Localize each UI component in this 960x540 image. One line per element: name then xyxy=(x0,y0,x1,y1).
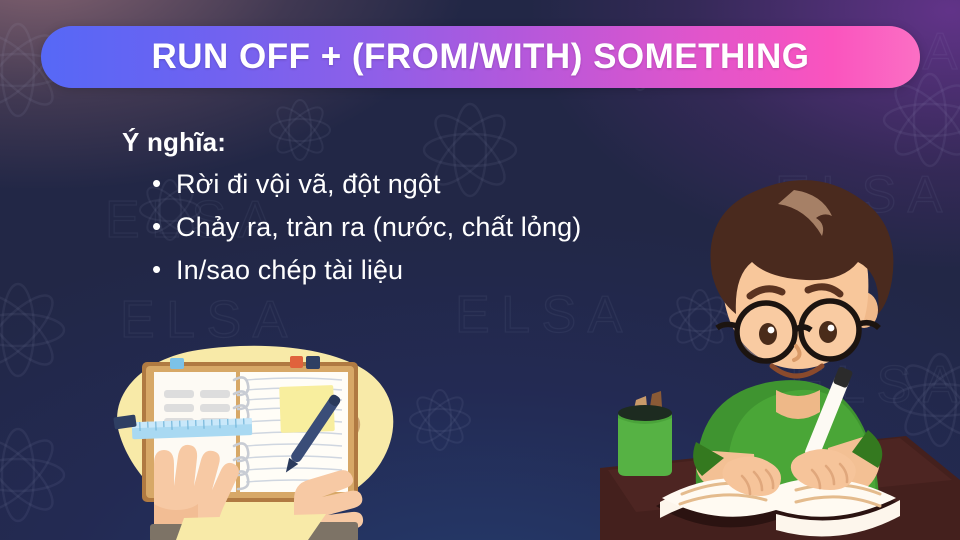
eye-right xyxy=(819,321,837,343)
list-item: • In/sao chép tài liệu xyxy=(152,251,581,290)
list-item: • Chảy ra, tràn ra (nước, chất lỏng) xyxy=(152,208,581,247)
list-item: • Rời đi vội vã, đột ngột xyxy=(152,165,581,204)
clip-blue xyxy=(170,358,184,369)
illustration-boy-studying xyxy=(600,150,960,540)
content-block: Ý nghĩa: • Rời đi vội vã, đột ngột • Chả… xyxy=(122,126,581,294)
list-item-label: Rời đi vội vã, đột ngột xyxy=(176,165,441,204)
page-title: RUN OFF + (FROM/WITH) SOMETHING xyxy=(151,37,809,77)
slide-root: ELSA ELSA ELSA ELSA ELSA ELSA RUN OFF + … xyxy=(0,0,960,540)
illustration-hands-writing-notebook xyxy=(58,318,418,540)
bullet-icon: • xyxy=(152,165,176,203)
list-item-label: Chảy ra, tràn ra (nước, chất lỏng) xyxy=(176,208,581,247)
hands-notebook-svg xyxy=(58,318,418,540)
paper-bottom xyxy=(176,514,326,540)
boy-studying-svg xyxy=(600,150,960,540)
clip-red xyxy=(290,356,303,368)
title-banner: RUN OFF + (FROM/WITH) SOMETHING xyxy=(41,26,920,88)
meaning-heading: Ý nghĩa: xyxy=(122,126,581,159)
pencil-cup xyxy=(618,391,672,476)
bullet-icon: • xyxy=(152,208,176,246)
meaning-bullet-list: • Rời đi vội vã, đột ngột • Chảy ra, trà… xyxy=(122,165,581,290)
list-item-label: In/sao chép tài liệu xyxy=(176,251,403,290)
eye-left xyxy=(759,323,777,345)
bullet-icon: • xyxy=(152,251,176,289)
clip-navy xyxy=(306,356,320,369)
